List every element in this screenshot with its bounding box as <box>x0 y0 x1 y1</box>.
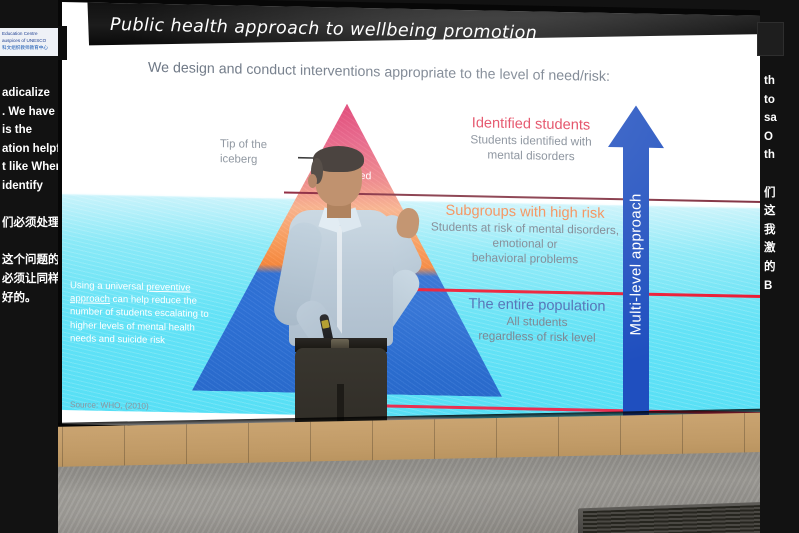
left-caption-line-4: t like When <box>0 158 58 177</box>
right-caption-line-0: th <box>764 72 799 91</box>
left-caption-line-2: is the <box>0 121 58 140</box>
presenter-right-hand <box>395 207 421 240</box>
multi-level-approach-label: Multi-level approach <box>608 105 664 424</box>
right-caption-line-5 <box>764 165 799 184</box>
presenter-ear <box>308 174 317 188</box>
left-caption-line-6 <box>0 196 58 215</box>
left-caption-line-7: 们必须处理 <box>0 214 58 233</box>
right-caption-line-10: 的 <box>764 258 799 277</box>
unesco-sign-line-2: auspices of UNESCO <box>2 37 58 44</box>
unesco-venue-sign: Education Centre auspices of UNESCO 科文组织… <box>0 28 60 56</box>
right-caption-line-8: 我 <box>764 221 799 240</box>
tip-of-iceberg-line2: iceberg <box>220 153 257 166</box>
right-caption-screen: th to sa O th 们 这 我 激 的 B <box>760 0 799 533</box>
right-caption-line-7: 这 <box>764 202 799 221</box>
left-caption-line-5: identify <box>0 177 58 196</box>
tip-of-iceberg-line1: Tip of the <box>220 138 267 151</box>
right-caption-line-4: th <box>764 146 799 165</box>
left-caption-line-1: . We have <box>0 103 58 122</box>
left-caption-screen: adicalize . We have is the ation helpful… <box>0 0 58 533</box>
unesco-sign-line-3: 科文组织教师教育中心 <box>2 44 58 51</box>
wall-monitor <box>757 22 784 56</box>
right-caption-line-9: 激 <box>764 239 799 258</box>
right-caption-line-3: O <box>764 128 799 147</box>
right-caption-line-2: sa <box>764 109 799 128</box>
left-caption-line-10: 必须让同样 <box>0 270 58 289</box>
left-caption-line-3: ation helpful. <box>0 140 58 159</box>
left-caption-line-8 <box>0 233 58 252</box>
screenshot-stage: Indicated Universal Tip of the iceberg I… <box>0 0 799 533</box>
sign-frame-edge <box>58 26 67 60</box>
unesco-sign-line-1: Education Centre <box>2 30 58 37</box>
slide-source-citation: Source: WHO, (2010) <box>70 400 149 411</box>
note-prefix: Using a universal <box>70 280 146 293</box>
right-caption-line-11: B <box>764 277 799 296</box>
presenter-shirt-placket <box>337 226 342 344</box>
universal-prevention-note: Using a universal preventive approach ca… <box>70 279 210 348</box>
left-caption-line-0: adicalize <box>0 84 58 103</box>
right-caption-line-1: to <box>764 91 799 110</box>
right-caption-line-6: 们 <box>764 184 799 203</box>
left-caption-line-11: 好的。 <box>0 289 58 308</box>
left-caption-line-9: 这个问题的 <box>0 251 58 270</box>
